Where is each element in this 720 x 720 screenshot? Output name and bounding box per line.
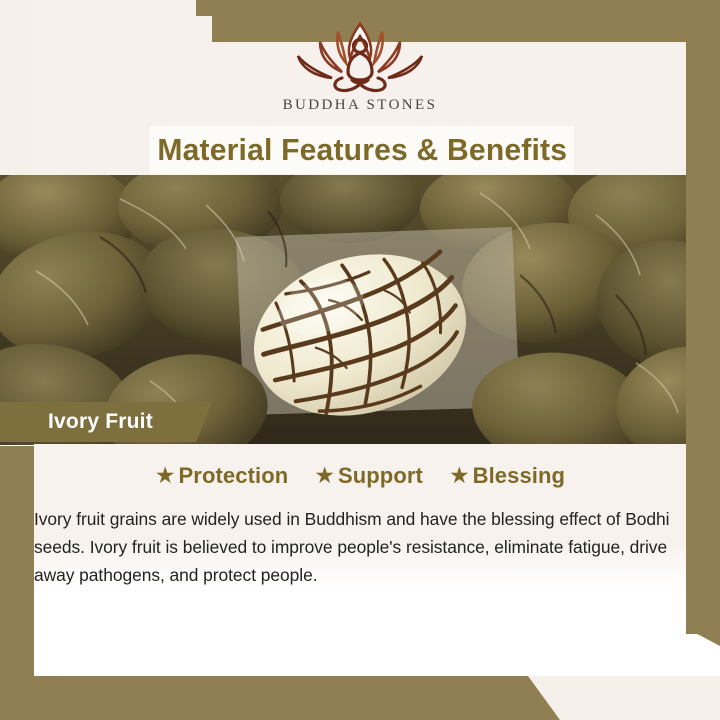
benefit-label: Protection [179, 463, 289, 489]
benefit-item-blessing: ★ Blessing [449, 463, 565, 489]
star-icon: ★ [314, 464, 335, 487]
frame-border-bottom [0, 676, 560, 720]
brand-logo: BUDDHA STONES [0, 18, 720, 114]
benefit-item-protection: ★ Protection [155, 463, 288, 489]
page-title: Material Features & Benefits [157, 132, 567, 168]
benefit-label: Blessing [473, 463, 566, 489]
photo-caption-badge: Ivory Fruit [0, 402, 212, 442]
content-card: ★ Protection ★ Support ★ Blessing Ivory … [34, 444, 686, 676]
title-banner: Material Features & Benefits [150, 126, 574, 174]
brand-name: BUDDHA STONES [0, 97, 720, 114]
benefits-row: ★ Protection ★ Support ★ Blessing [34, 444, 686, 489]
star-icon: ★ [155, 464, 176, 487]
lotus-meditation-icon [276, 18, 444, 94]
benefit-label: Support [338, 463, 423, 489]
benefit-item-support: ★ Support [314, 463, 423, 489]
marketing-infographic: BUDDHA STONES Material Features & Benefi… [0, 0, 720, 720]
photo-caption-text: Ivory Fruit [48, 410, 153, 434]
frame-border-top-notch [196, 0, 720, 16]
star-icon: ★ [449, 464, 470, 487]
description-text: Ivory fruit grains are widely used in Bu… [34, 505, 686, 590]
